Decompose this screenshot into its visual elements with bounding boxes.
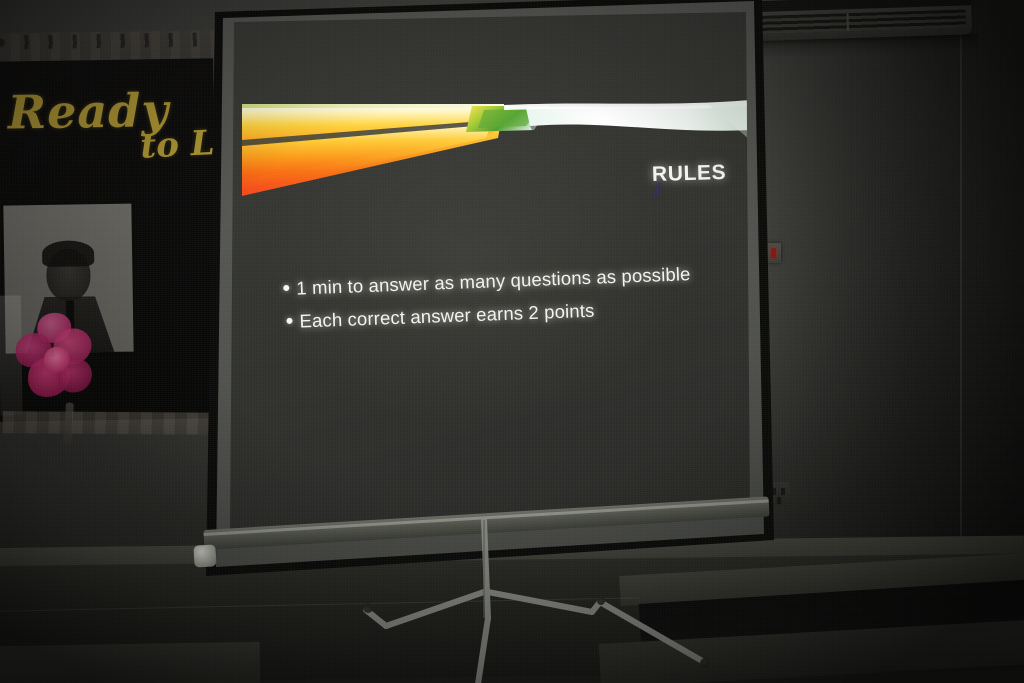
portrait-photo	[3, 204, 133, 354]
wall-corner-edge	[960, 0, 962, 548]
outlet-slot	[781, 488, 785, 495]
floor-left-tiles	[0, 642, 260, 683]
bulletin-board-border-bottom	[3, 411, 219, 435]
classroom-scene: Ready to L	[0, 0, 1024, 683]
slide-bullet-text: 1 min to answer as many questions as pos…	[296, 263, 691, 299]
portrait-hair	[42, 240, 94, 267]
portrait-tie	[66, 301, 75, 341]
slide-bullet-text: Each correct answer earns 2 points	[299, 300, 595, 333]
bulletin-board: Ready to L	[0, 20, 224, 473]
slide-bullet-list: 1 min to answer as many questions as pos…	[283, 262, 725, 344]
slide-banner-graphic-icon	[234, 100, 750, 204]
outlet-slot	[777, 497, 781, 504]
tripod-projection-screen: RULES 1 min to answer as many questions …	[196, 0, 774, 594]
slide-content: RULES 1 min to answer as many questions …	[230, 12, 750, 532]
bullet-marker-icon	[286, 318, 292, 324]
wall-shadow-right	[760, 0, 1024, 560]
bullet-marker-icon	[283, 285, 289, 291]
slide-bullet-item: 1 min to answer as many questions as pos…	[283, 262, 724, 300]
slide-bullet-item: Each correct answer earns 2 points	[286, 295, 725, 333]
projected-slide: RULES 1 min to answer as many questions …	[230, 12, 750, 532]
bulletin-board-side-label	[0, 295, 23, 415]
screen-roller-knob[interactable]	[193, 544, 216, 567]
